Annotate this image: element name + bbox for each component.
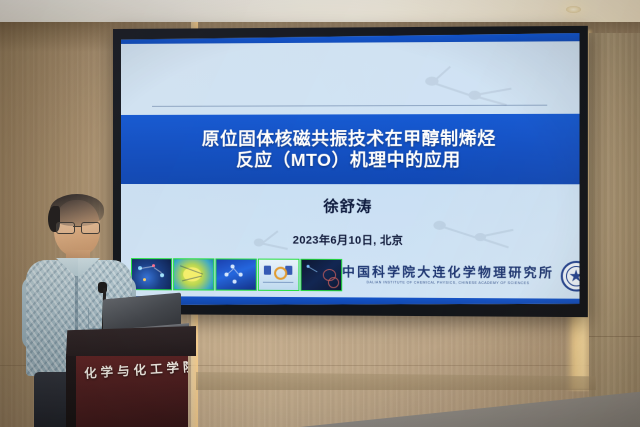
right-wall-return xyxy=(589,33,640,403)
organization-name-en: DALIAN INSTITUTE OF CHEMICAL PHYSICS, CH… xyxy=(342,280,554,285)
wall-mounted-display: 原位固体核磁共振技术在甲醇制烯烃 反应（MTO）机理中的应用 徐舒涛 2023年… xyxy=(113,26,588,317)
slide-thumbnail-strip xyxy=(131,258,342,291)
glasses-lens-right xyxy=(81,222,100,234)
organization-name-cn: 中国科学院大连化学物理研究所 xyxy=(342,266,554,280)
organization-lockup: 中国科学院大连化学物理研究所 DALIAN INSTITUTE OF CHEMI… xyxy=(342,260,579,292)
recessed-downlight-icon xyxy=(566,6,581,13)
slide-rule xyxy=(152,105,546,107)
slide-footer: 中国科学院大连化学物理研究所 DALIAN INSTITUTE OF CHEMI… xyxy=(121,252,580,299)
display-panel: 原位固体核磁共振技术在甲醇制烯烃 反应（MTO）机理中的应用 徐舒涛 2023年… xyxy=(121,33,580,308)
podium-front: 化学与化工学院 xyxy=(76,352,188,427)
podium-label: 化学与化工学院 xyxy=(84,355,207,382)
podium: 化学与化工学院 xyxy=(66,326,196,427)
podium-top xyxy=(66,326,196,356)
glasses-lens-left xyxy=(56,222,75,234)
slide-title-band: 原位固体核磁共振技术在甲醇制烯烃 反应（MTO）机理中的应用 xyxy=(121,114,580,184)
right-wall-seam xyxy=(589,336,640,337)
lecture-hall-scene: 原位固体核磁共振技术在甲醇制烯烃 反应（MTO）机理中的应用 徐舒涛 2023年… xyxy=(0,0,640,427)
presentation-slide: 原位固体核磁共振技术在甲醇制烯烃 反应（MTO）机理中的应用 徐舒涛 2023年… xyxy=(121,33,580,308)
cas-seal-icon xyxy=(560,261,579,292)
slide-date-location: 2023年6月10日, 北京 xyxy=(121,231,580,249)
reaction-map-thumb xyxy=(173,258,214,290)
carbon-network-thumb xyxy=(300,259,342,292)
slide-speaker-name: 徐舒涛 xyxy=(121,195,580,217)
nmr-scheme-thumb xyxy=(258,258,300,290)
molecular-cluster-thumb xyxy=(215,258,256,290)
glasses-bridge xyxy=(73,226,81,227)
glasses-icon xyxy=(56,222,100,232)
cas-star-glyph xyxy=(569,269,579,282)
slide-title-line-1: 原位固体核磁共振技术在甲醇制烯烃 xyxy=(202,128,496,149)
slide-title-line-2: 反应（MTO）机理中的应用 xyxy=(236,150,461,171)
